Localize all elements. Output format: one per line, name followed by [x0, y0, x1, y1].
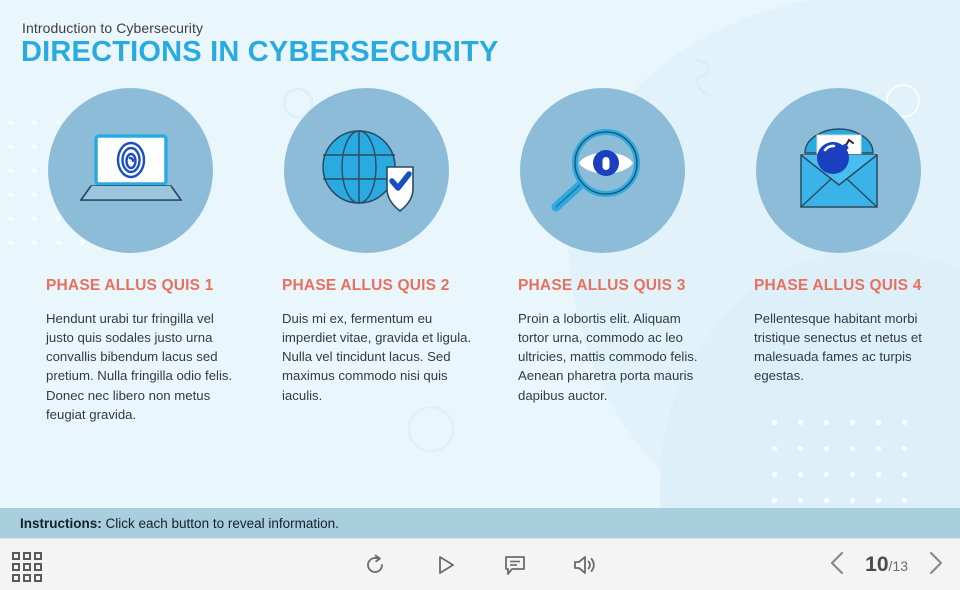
phase-title-4: PHASE ALLUS QUIS 4 [754, 277, 960, 295]
playback-controls [0, 539, 960, 590]
phase-title-2: PHASE ALLUS QUIS 2 [282, 277, 488, 295]
replay-icon [363, 553, 387, 577]
phase-column-4: PHASE ALLUS QUIS 4 Pellentesque habitant… [746, 88, 960, 448]
phase-body-1: Hendunt urabi tur fringilla vel justo qu… [46, 309, 236, 424]
phase-title-3: PHASE ALLUS QUIS 3 [518, 277, 724, 295]
envelope-bomb-icon [791, 125, 887, 217]
volume-icon [572, 553, 598, 577]
phase-title-1: PHASE ALLUS QUIS 1 [46, 277, 252, 295]
phase-column-2: PHASE ALLUS QUIS 2 Duis mi ex, fermentum… [274, 88, 488, 448]
page-title: DIRECTIONS IN CYBERSECURITY [21, 36, 499, 69]
player-toolbar: 10/13 [0, 538, 960, 590]
phase-columns: PHASE ALLUS QUIS 1 Hendunt urabi tur fri… [0, 88, 960, 448]
phase-button-3[interactable] [520, 88, 685, 253]
phase-button-4[interactable] [756, 88, 921, 253]
phase-column-3: PHASE ALLUS QUIS 3 Proin a lobortis elit… [510, 88, 724, 448]
phase-body-3: Proin a lobortis elit. Aliquam tortor ur… [518, 309, 708, 405]
captions-icon [503, 553, 527, 577]
laptop-fingerprint-icon [77, 128, 185, 214]
volume-button[interactable] [571, 551, 599, 579]
phase-button-2[interactable] [284, 88, 449, 253]
page-navigation: 10/13 [827, 539, 946, 590]
instructions-bar: Instructions: Click each button to revea… [0, 508, 960, 538]
current-page: 10 [865, 553, 888, 576]
phase-button-1[interactable] [48, 88, 213, 253]
play-button[interactable] [431, 551, 459, 579]
phase-column-1: PHASE ALLUS QUIS 1 Hendunt urabi tur fri… [38, 88, 252, 448]
next-page-button[interactable] [924, 549, 946, 582]
magnifier-eye-lock-icon [548, 123, 658, 219]
captions-button[interactable] [501, 551, 529, 579]
phase-body-2: Duis mi ex, fermentum eu imperdiet vitae… [282, 309, 472, 405]
chevron-left-icon [827, 549, 849, 577]
page-indicator: 10/13 [865, 553, 908, 577]
instructions-text: Instructions: Click each button to revea… [20, 516, 339, 531]
total-pages: /13 [889, 558, 908, 574]
play-icon [433, 553, 457, 577]
instructions-body: Click each button to reveal information. [102, 516, 339, 531]
slide-stage: PHASE ALLUS QUIS 1 Hendunt urabi tur fri… [0, 0, 960, 538]
slide-kicker: Introduction to Cybersecurity [22, 20, 203, 36]
phase-body-4: Pellentesque habitant morbi tristique se… [754, 309, 939, 386]
instructions-label: Instructions: [20, 516, 102, 531]
replay-button[interactable] [361, 551, 389, 579]
chevron-right-icon [924, 549, 946, 577]
prev-page-button[interactable] [827, 549, 849, 582]
globe-shield-check-icon [315, 123, 419, 219]
